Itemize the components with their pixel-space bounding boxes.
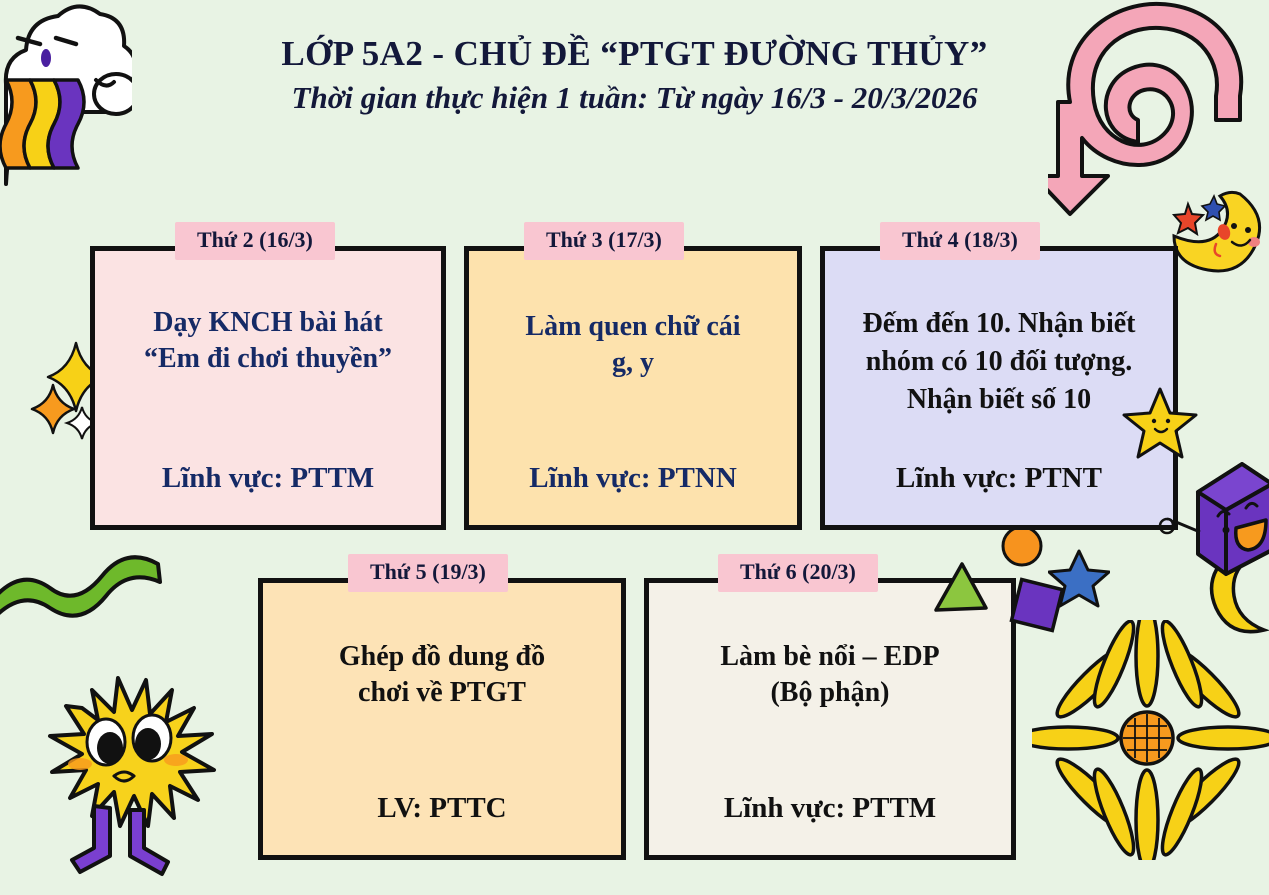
orange-circle-sticker xyxy=(1000,524,1044,568)
day-card-field: Lĩnh vực: PTTM xyxy=(103,462,433,511)
day-card-topic: Dạy KNCH bài hát “Em đi chơi thuyền” xyxy=(103,305,433,377)
day-card-thursday[interactable]: Ghép đồ dung đồ chơi về PTGT LV: PTTC xyxy=(258,578,626,860)
sun-character-sticker xyxy=(22,630,232,880)
day-card-topic: Ghép đồ dung đồ chơi về PTGT xyxy=(271,639,613,711)
day-card-tuesday[interactable]: Làm quen chữ cái g, y Lĩnh vực: PTNN xyxy=(464,246,802,530)
yellow-crescent-sticker xyxy=(1208,548,1269,638)
day-card-tag-monday: Thứ 2 (16/3) xyxy=(175,222,335,260)
blue-star-sticker xyxy=(1048,548,1110,608)
crescent-moon-face-sticker xyxy=(1168,190,1268,276)
day-card-wednesday[interactable]: Đếm đến 10. Nhận biết nhóm có 10 đối tượ… xyxy=(820,246,1178,530)
day-card-field: Lĩnh vực: PTNN xyxy=(477,462,789,511)
title-line-2: Thời gian thực hiện 1 tuần: Từ ngày 16/3… xyxy=(0,79,1269,116)
poster-canvas: LỚP 5A2 - CHỦ ĐỀ “PTGT ĐƯỜNG THỦY” Thời … xyxy=(0,0,1269,895)
day-card-tag-thursday: Thứ 5 (19/3) xyxy=(348,554,508,592)
day-card-field: Lĩnh vực: PTTM xyxy=(657,792,1003,841)
poster-title: LỚP 5A2 - CHỦ ĐỀ “PTGT ĐƯỜNG THỦY” Thời … xyxy=(0,34,1269,116)
day-card-topic: Làm quen chữ cái g, y xyxy=(477,309,789,381)
day-card-tag-wednesday: Thứ 4 (18/3) xyxy=(880,222,1040,260)
day-card-friday[interactable]: Làm bè nổi – EDP (Bộ phận) Lĩnh vực: PTT… xyxy=(644,578,1016,860)
green-wave-ribbon-sticker xyxy=(0,548,164,618)
day-card-topic: Làm bè nổi – EDP (Bộ phận) xyxy=(657,639,1003,711)
day-card-tag-friday: Thứ 6 (20/3) xyxy=(718,554,878,592)
day-card-field: LV: PTTC xyxy=(271,792,613,841)
day-card-topic: Đếm đến 10. Nhận biết nhóm có 10 đối tượ… xyxy=(833,305,1165,419)
day-card-monday[interactable]: Dạy KNCH bài hát “Em đi chơi thuyền” Lĩn… xyxy=(90,246,446,530)
title-line-1: LỚP 5A2 - CHỦ ĐỀ “PTGT ĐƯỜNG THỦY” xyxy=(0,34,1269,75)
day-card-tag-tuesday: Thứ 3 (17/3) xyxy=(524,222,684,260)
purple-cube-character-sticker xyxy=(1176,440,1269,580)
day-card-field: Lĩnh vực: PTNT xyxy=(833,462,1165,511)
daisy-flower-sticker xyxy=(1032,620,1269,860)
